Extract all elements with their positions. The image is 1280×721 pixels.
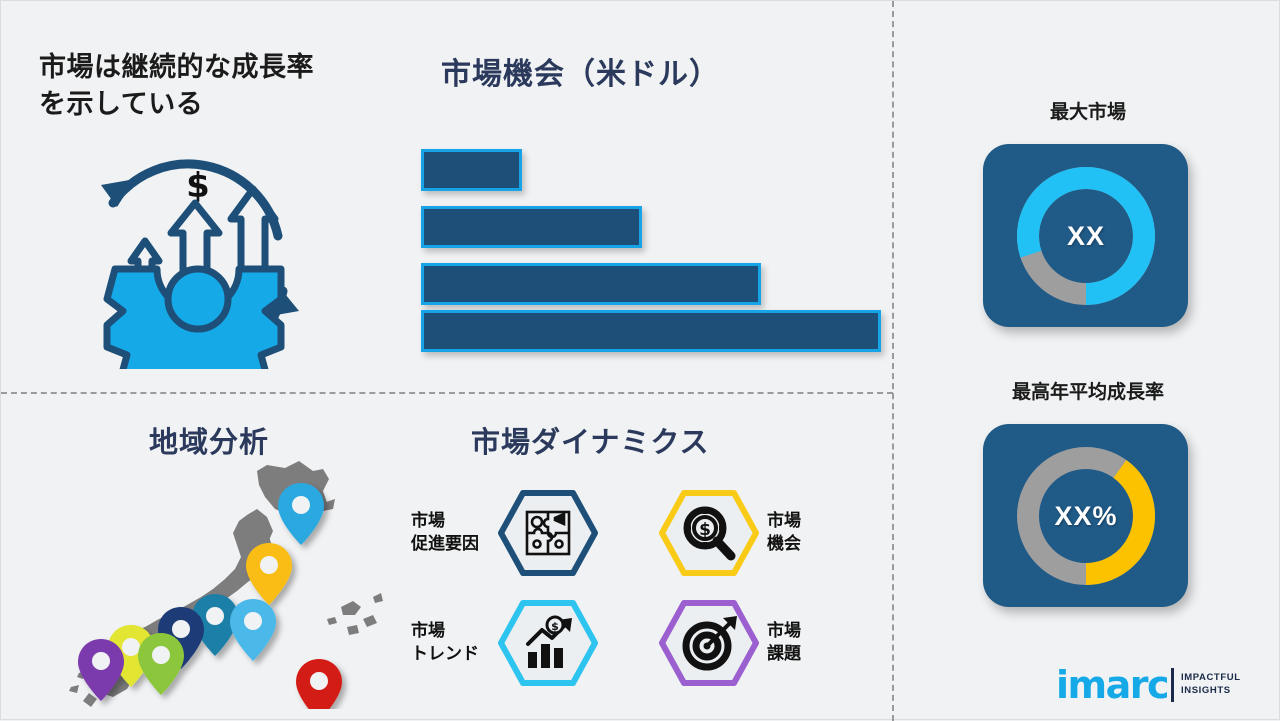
market-trends[interactable]: 市場 トレンド $ (401, 598, 616, 688)
slide-canvas: 市場は継続的な成長率 を示している $ 市場機会 (0, 0, 1280, 720)
highest-cagr-card: XX% (983, 424, 1188, 607)
growth-gear-arrows-icon: $ (73, 141, 323, 369)
imarc-tagline: IMPACTFUL INSIGHTS (1181, 672, 1241, 698)
largest-market-donut: XX (1011, 152, 1161, 320)
bar-chart-arrow-icon: $ (498, 600, 598, 686)
svg-text:$: $ (551, 620, 559, 633)
horizontal-divider (1, 392, 893, 394)
bar-2 (421, 206, 642, 248)
svg-text:$: $ (699, 520, 711, 540)
svg-text:$: $ (186, 166, 210, 206)
market-challenges-label: 市場 課題 (767, 620, 852, 666)
market-opportunity-title: 市場機会（米ドル） (441, 49, 861, 93)
market-opportunities-label: 市場 機会 (767, 510, 852, 556)
bar-4 (421, 310, 881, 352)
puzzle-pieces-icon (498, 490, 598, 576)
regional-analysis-title: 地域分析 (149, 419, 409, 461)
magnifier-dollar-icon: $ (659, 490, 759, 576)
vertical-divider (892, 1, 894, 721)
largest-market-value: XX (1011, 152, 1161, 320)
highest-cagr-value: XX% (1011, 432, 1161, 600)
bar-3 (421, 263, 761, 305)
largest-market-card: XX (983, 144, 1188, 327)
growth-title: 市場は継続的な成長率 を示している (39, 49, 379, 124)
imarc-wordmark: imarc (1056, 666, 1168, 704)
market-drivers[interactable]: 市場 促進要因 (401, 488, 616, 578)
target-dart-icon (659, 600, 759, 686)
market-opportunities[interactable]: $ 市場 機会 (641, 488, 856, 578)
market-dynamics-title: 市場ダイナミクス (471, 419, 811, 461)
logo-separator (1171, 668, 1174, 702)
market-drivers-label: 市場 促進要因 (411, 510, 506, 556)
opportunity-bar-chart (421, 149, 881, 354)
highest-cagr-title: 最高年平均成長率 (953, 377, 1223, 404)
imarc-logo: imarc IMPACTFUL INSIGHTS (1056, 661, 1256, 709)
largest-market-title: 最大市場 (963, 97, 1213, 124)
tagline-line-2: INSIGHTS (1181, 685, 1241, 698)
bar-1 (421, 149, 522, 191)
market-trends-label: 市場 トレンド (411, 620, 506, 666)
japan-map (61, 459, 391, 709)
highest-cagr-donut: XX% (1011, 432, 1161, 600)
tagline-line-1: IMPACTFUL (1181, 672, 1241, 685)
market-challenges[interactable]: 市場 課題 (641, 598, 856, 688)
